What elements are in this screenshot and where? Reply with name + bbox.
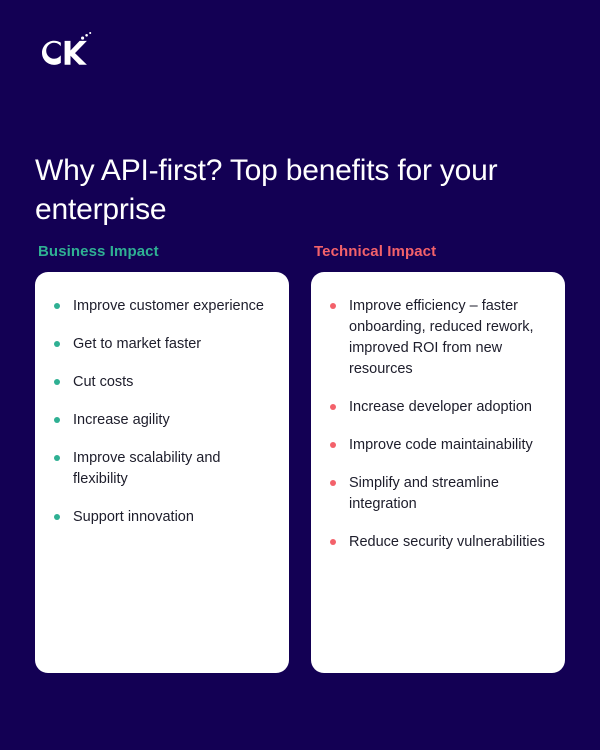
impact-columns: Business Impact Improve customer experie… xyxy=(35,243,565,673)
list-item: Increase developer adoption xyxy=(328,397,547,418)
slide-canvas: Why API-first? Top benefits for your ent… xyxy=(0,0,600,750)
list-item-label: Improve scalability and flexibility xyxy=(73,450,221,487)
list-item: Reduce security vulnerabilities xyxy=(328,532,547,553)
list-item: Improve scalability and flexibility xyxy=(52,448,271,490)
list-item: Increase agility xyxy=(52,410,271,431)
bullet-dot-icon xyxy=(330,539,336,545)
list-item-label: Increase agility xyxy=(73,412,170,428)
business-impact-card: Improve customer experience Get to marke… xyxy=(35,272,289,673)
list-item-label: Improve customer experience xyxy=(73,298,264,314)
bullet-dot-icon xyxy=(54,417,60,423)
list-item: Improve code maintainability xyxy=(328,435,547,456)
list-item-label: Support innovation xyxy=(73,509,194,525)
list-item-label: Increase developer adoption xyxy=(349,399,532,415)
bullet-dot-icon xyxy=(330,404,336,410)
list-item-label: Get to market faster xyxy=(73,336,201,352)
column-business: Business Impact Improve customer experie… xyxy=(35,243,289,673)
technical-impact-card: Improve efficiency – faster onboarding, … xyxy=(311,272,565,673)
list-item-label: Reduce security vulnerabilities xyxy=(349,534,545,550)
bullet-dot-icon xyxy=(54,514,60,520)
column-title-technical: Technical Impact xyxy=(311,243,565,260)
bullet-dot-icon xyxy=(54,303,60,309)
list-item-label: Cut costs xyxy=(73,374,133,390)
technical-bullet-list: Improve efficiency – faster onboarding, … xyxy=(328,296,547,553)
page-title: Why API-first? Top benefits for your ent… xyxy=(35,151,535,229)
column-title-business: Business Impact xyxy=(35,243,289,260)
bullet-dot-icon xyxy=(54,341,60,347)
list-item: Support innovation xyxy=(52,507,271,528)
list-item-label: Improve code maintainability xyxy=(349,437,533,453)
bullet-dot-icon xyxy=(54,455,60,461)
bullet-dot-icon xyxy=(330,303,336,309)
list-item: Simplify and streamline integration xyxy=(328,473,547,515)
list-item: Improve efficiency – faster onboarding, … xyxy=(328,296,547,380)
bullet-dot-icon xyxy=(54,379,60,385)
ck-monogram-logo-icon xyxy=(35,30,97,78)
list-item: Improve customer experience xyxy=(52,296,271,317)
list-item: Cut costs xyxy=(52,372,271,393)
column-technical: Technical Impact Improve efficiency – fa… xyxy=(311,243,565,673)
list-item-label: Improve efficiency – faster onboarding, … xyxy=(349,298,534,377)
list-item: Get to market faster xyxy=(52,334,271,355)
bullet-dot-icon xyxy=(330,480,336,486)
business-bullet-list: Improve customer experience Get to marke… xyxy=(52,296,271,528)
bullet-dot-icon xyxy=(330,442,336,448)
list-item-label: Simplify and streamline integration xyxy=(349,475,499,512)
